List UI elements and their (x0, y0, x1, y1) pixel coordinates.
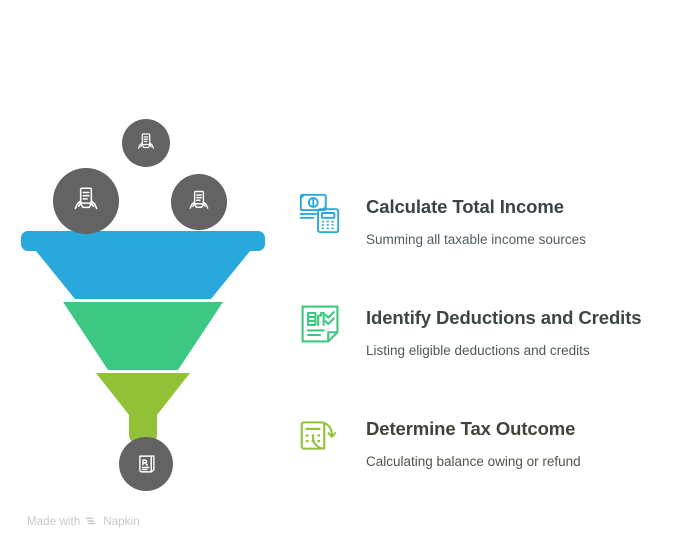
step-item-identify-deductions-and-credits[interactable]: Identify Deductions and Credits Listing … (296, 296, 668, 366)
step-icon-wrapper-2 (296, 300, 344, 348)
funnel-segment-deductions[interactable] (63, 302, 223, 370)
made-with-napkin-footer[interactable]: Made with Napkin (27, 515, 140, 528)
step-description-1: Summing all taxable income sources (366, 231, 586, 249)
step-icon-wrapper-1 (296, 189, 344, 237)
step-text-1: Calculate Total Income Summing all taxab… (366, 185, 586, 249)
napkin-chevrons-icon (85, 515, 98, 528)
funnel-segment-income[interactable] (21, 231, 265, 299)
hands-holding-document-icon (185, 188, 213, 216)
funnel-input-bubble-1[interactable] (122, 119, 170, 167)
step-description-3: Calculating balance owing or refund (366, 453, 581, 471)
calculator-refresh-icon (298, 413, 343, 458)
footer-brand-label: Napkin (103, 516, 139, 528)
funnel-input-bubble-2[interactable] (53, 168, 119, 234)
step-description-2: Listing eligible deductions and credits (366, 342, 641, 360)
step-item-determine-tax-outcome[interactable]: Determine Tax Outcome Calculating balanc… (296, 407, 668, 477)
step-title-3: Determine Tax Outcome (366, 418, 581, 440)
money-calculator-icon (297, 190, 343, 236)
step-text-2: Identify Deductions and Credits Listing … (366, 296, 641, 360)
hands-holding-document-icon (134, 131, 158, 155)
tax-receipt-icon (132, 450, 160, 478)
funnel-segment-outcome[interactable] (96, 373, 190, 444)
diagram-canvas: Calculate Total Income Summing all taxab… (0, 0, 674, 552)
step-item-calculate-total-income[interactable]: Calculate Total Income Summing all taxab… (296, 185, 668, 255)
step-title-1: Calculate Total Income (366, 196, 586, 218)
funnel-output-bubble[interactable] (119, 437, 173, 491)
steps-list: Calculate Total Income Summing all taxab… (296, 185, 668, 477)
step-title-2: Identify Deductions and Credits (366, 307, 641, 329)
funnel-input-bubble-3[interactable] (171, 174, 227, 230)
step-text-3: Determine Tax Outcome Calculating balanc… (366, 407, 581, 471)
step-icon-wrapper-3 (296, 411, 344, 459)
footer-prefix-label: Made with (27, 516, 80, 528)
document-checklist-icon (298, 302, 342, 346)
hands-holding-document-icon (69, 184, 103, 218)
